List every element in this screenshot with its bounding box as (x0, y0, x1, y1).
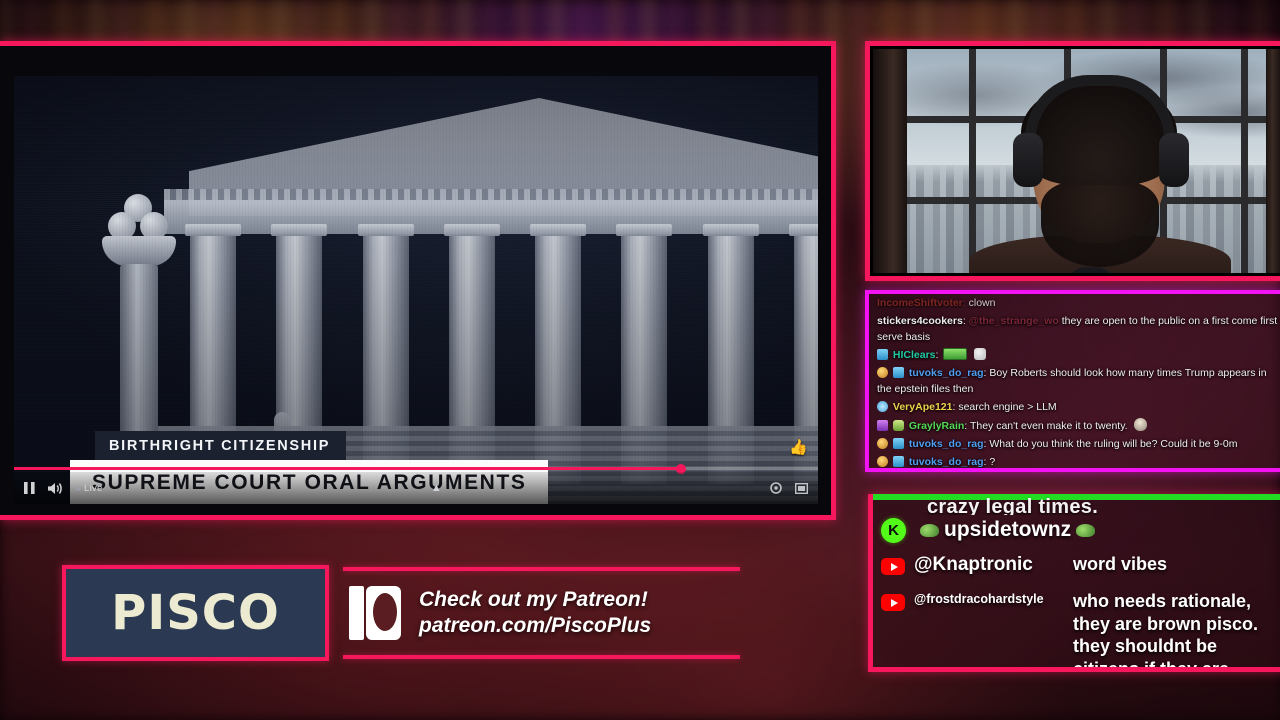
gold-badge-icon (877, 438, 888, 449)
live-dot-icon (76, 486, 81, 491)
green-box-emote-icon (943, 348, 967, 360)
chat-username: HIClears (893, 349, 936, 361)
previous-comment-text: crazy legal times. (927, 496, 1280, 515)
comment-overlay-panel: crazy legal times. K upsidetownz @Knaptr… (868, 494, 1280, 672)
patreon-banner[interactable]: PISCO Check out my Patreon! patreon.com/… (62, 564, 740, 662)
youtube-play-icon (881, 594, 905, 611)
chat-text: ? (989, 456, 995, 468)
chat-username: IncomeShiftvoter (877, 297, 963, 309)
purple-badge-icon (877, 420, 888, 431)
chat-message: tuvoks_do_rag: Boy Roberts should look h… (877, 366, 1279, 398)
chat-message: GraylyRain: They can't even make it to t… (877, 418, 1279, 435)
volume-icon[interactable] (48, 482, 63, 495)
chat-username: tuvoks_do_rag (909, 456, 984, 468)
comment-row: @frostdracohardstyle who needs rationale… (881, 590, 1278, 672)
chat-message: tuvoks_do_rag: ? (877, 455, 1279, 471)
chat-mention: @the_strange_wo (969, 315, 1059, 327)
subscriber-badge-icon (893, 367, 904, 378)
window-frame-right (1266, 49, 1280, 273)
snowflake-badge-icon (877, 401, 888, 412)
window-mullion (969, 49, 976, 273)
small-emote-icon (974, 348, 986, 360)
leaf-badge-icon (893, 420, 904, 431)
live-indicator[interactable]: Live (76, 483, 103, 494)
video-control-bar[interactable]: Live ▲ (14, 472, 818, 504)
chat-text: clown (969, 297, 996, 309)
chat-message: IncomeShiftvoter: clown (877, 296, 1279, 312)
patreon-callout: Check out my Patreon! patreon.com/PiscoP… (343, 565, 740, 661)
pepe-emote-icon (920, 524, 939, 537)
video-progress-bar[interactable] (14, 467, 818, 470)
comment-text: word vibes (1073, 554, 1167, 575)
divider-line (343, 567, 740, 571)
settings-gear-icon[interactable] (770, 482, 782, 494)
chat-username: VeryApe121 (893, 401, 953, 413)
chevron-up-icon[interactable]: ▲ (431, 482, 442, 494)
subscriber-badge-icon (877, 349, 888, 360)
comment-text: who needs rationale, they are brown pisc… (1073, 590, 1278, 672)
headphone-earcup (1013, 133, 1043, 187)
stream-layout: BIRTHRIGHT CITIZENSHIP SUPREME COURT ORA… (0, 0, 1280, 720)
pisco-logo: PISCO (62, 565, 329, 661)
skull-emote-icon (1134, 418, 1147, 431)
webcam-frame (865, 41, 1280, 281)
comment-author: @Knaptronic (914, 554, 1064, 576)
gold-badge-icon (877, 456, 888, 467)
chat-text: What do you think the ruling will be? Co… (989, 438, 1237, 450)
pause-icon[interactable] (24, 482, 35, 494)
chat-username: stickers4cookers (877, 315, 963, 327)
pisco-logo-text: PISCO (111, 589, 280, 637)
divider-line (343, 655, 740, 659)
gold-badge-icon (877, 367, 888, 378)
fullscreen-icon[interactable] (795, 483, 808, 494)
live-label: Live (84, 483, 103, 494)
video-player-viewport[interactable]: BIRTHRIGHT CITIZENSHIP SUPREME COURT ORA… (14, 76, 818, 504)
window-frame-left (873, 49, 907, 273)
chat-username: tuvoks_do_rag (909, 438, 984, 450)
comment-author: @frostdracohardstyle (914, 590, 1064, 609)
kick-logo-icon: K (881, 518, 906, 543)
patreon-line-2: patreon.com/PiscoPlus (419, 613, 651, 639)
subscriber-badge-icon (893, 456, 904, 467)
window-mullion (1241, 49, 1248, 273)
chat-message: stickers4cookers: @the_strange_wo they a… (877, 314, 1279, 346)
streamer-beard (1041, 181, 1159, 267)
webcam-feed (873, 49, 1280, 273)
chat-username: GraylyRain (909, 420, 964, 432)
chat-username: tuvoks_do_rag (909, 367, 984, 379)
chat-message-list[interactable]: IncomeShiftvoter: clown stickers4cookers… (869, 294, 1280, 468)
headphone-earcup (1159, 133, 1189, 187)
comment-row: @Knaptronic word vibes (881, 554, 1278, 576)
pepe-emote-icon (1076, 524, 1095, 537)
chat-message: tuvoks_do_rag: What do you think the rul… (877, 437, 1279, 453)
chat-text: They can't even make it to twenty. (970, 420, 1128, 432)
chat-message: HIClears: (877, 348, 1279, 364)
twitch-chat-panel[interactable]: IncomeShiftvoter: clown stickers4cookers… (865, 290, 1280, 472)
patreon-text-block: Check out my Patreon! patreon.com/PiscoP… (419, 587, 651, 638)
comment-author: upsidetownz (944, 518, 1071, 542)
youtube-play-icon (881, 558, 905, 575)
video-player-frame[interactable]: BIRTHRIGHT CITIZENSHIP SUPREME COURT ORA… (0, 41, 836, 520)
chat-text: search engine > LLM (958, 401, 1056, 413)
patreon-logo-icon (349, 586, 401, 640)
subscriber-badge-icon (893, 438, 904, 449)
broadcast-kicker: BIRTHRIGHT CITIZENSHIP (95, 431, 346, 461)
chat-message: VeryApe121: search engine > LLM (877, 400, 1279, 416)
video-progress-fill (14, 467, 681, 470)
patreon-line-1: Check out my Patreon! (419, 587, 651, 613)
thumbs-up-cursor-icon: 👍 (789, 438, 808, 456)
comment-row: K upsidetownz (881, 518, 1278, 543)
patreon-content: Check out my Patreon! patreon.com/PiscoP… (349, 581, 740, 645)
